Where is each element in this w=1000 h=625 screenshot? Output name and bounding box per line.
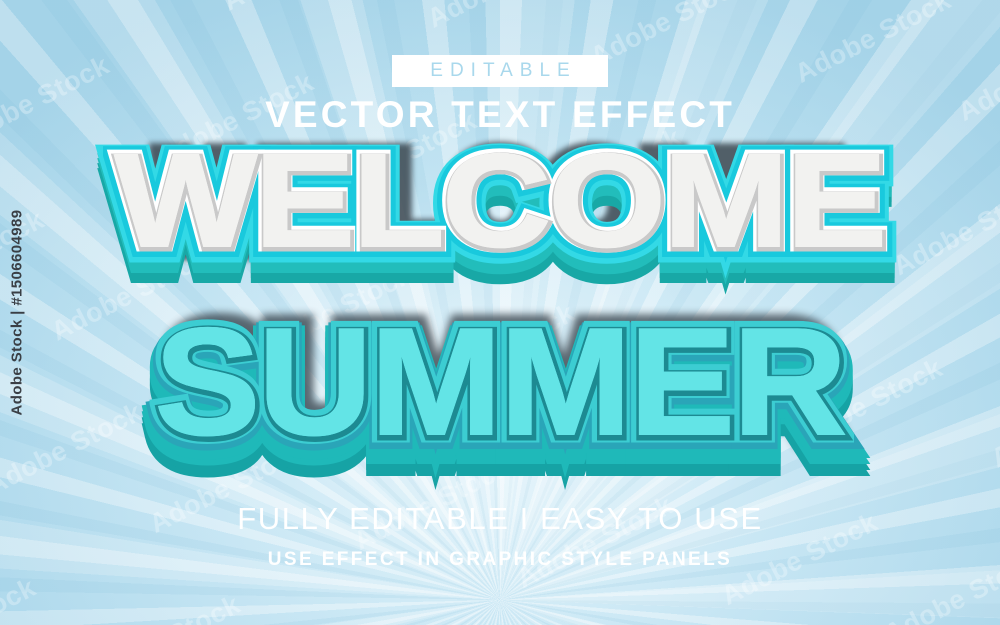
welcome-face: WELCOME (115, 135, 885, 267)
editable-badge: EDITABLE (392, 55, 608, 87)
summer-face: SUMMER (155, 306, 845, 458)
headline-welcome-stack: WELCOME WELCOME WELCOME WELCOME WELCOME … (162, 136, 837, 268)
editable-badge-label: EDITABLE (423, 60, 576, 82)
headline-summer-stack: SUMMER SUMMER SUMMER SUMMER SUMMER SUMME… (168, 306, 832, 458)
content-layer: EDITABLE VECTOR TEXT EFFECT WELCOME WELC… (0, 0, 1000, 625)
stock-credit: Adobe Stock | #1506604989 (0, 0, 34, 625)
headline-summer: SUMMER SUMMER SUMMER SUMMER SUMMER SUMME… (0, 306, 1000, 458)
footer-line-primary: FULLY EDITABLE I EASY TO USE (0, 501, 1000, 537)
artboard: Adobe Stock Adobe Stock Adobe Stock Adob… (0, 0, 1000, 625)
footer-line-secondary: USE EFFECT IN GRAPHIC STYLE PANELS (0, 549, 1000, 571)
headline-welcome: WELCOME WELCOME WELCOME WELCOME WELCOME … (0, 136, 1000, 268)
stock-credit-text: Adobe Stock | #1506604989 (9, 210, 26, 416)
